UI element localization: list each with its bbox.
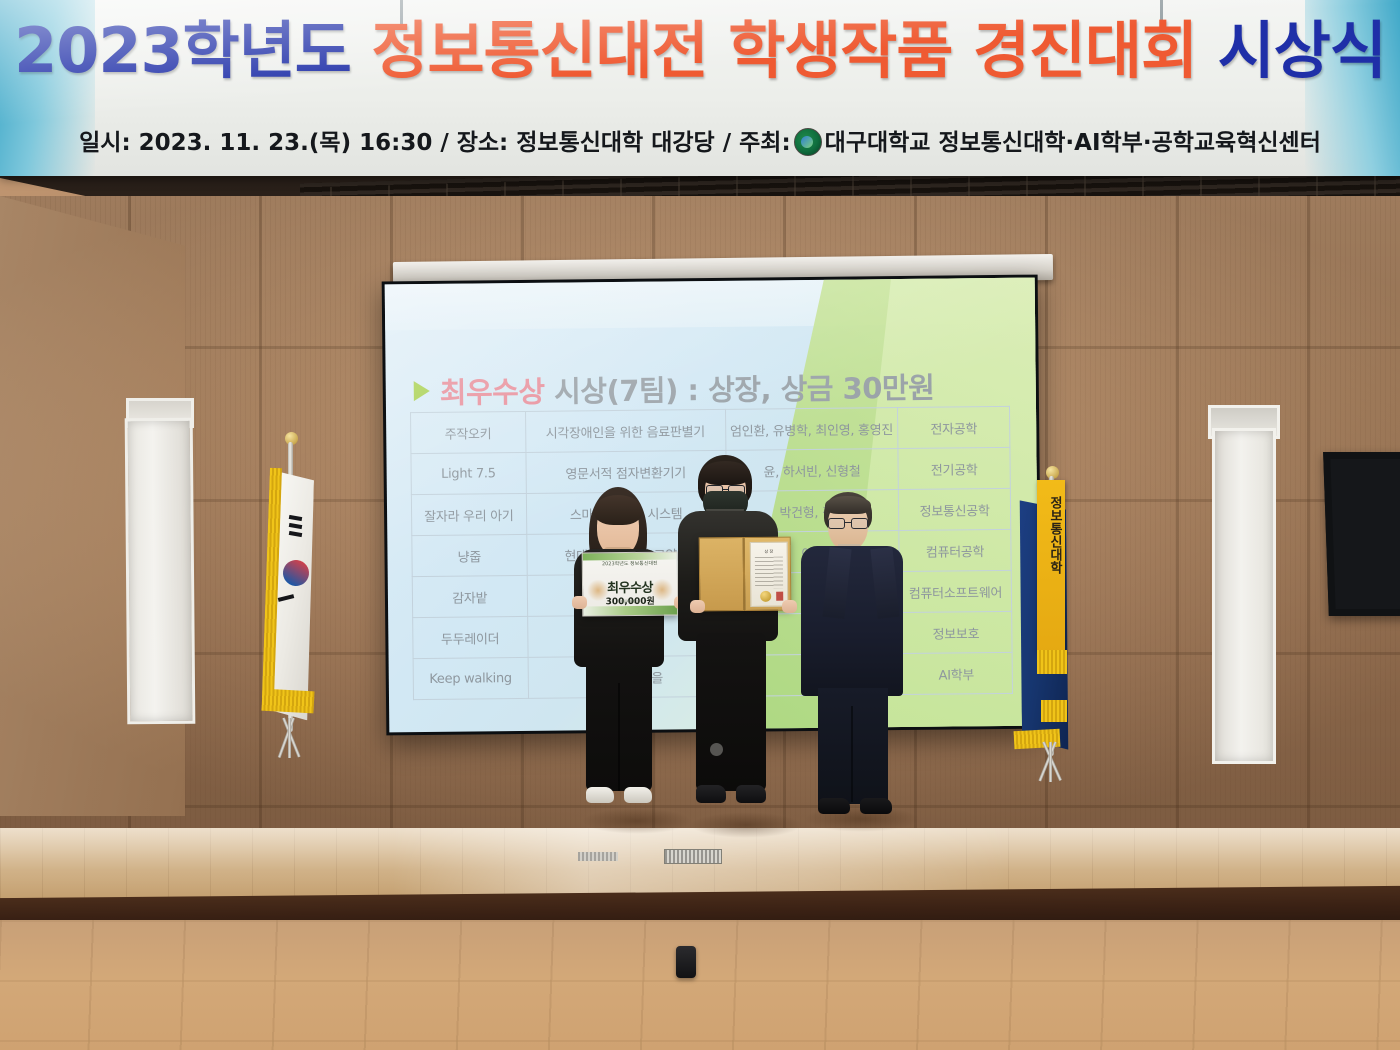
stage-right-door[interactable] <box>1212 428 1276 764</box>
hair-front <box>825 496 871 514</box>
table-cell: 냥줍 <box>412 534 527 576</box>
table-cell: 전기공학 <box>898 447 1010 489</box>
stage-floor-vent-1 <box>578 852 618 861</box>
certificate-text-lines <box>755 557 783 589</box>
university-banner-text: 정보통신대학 <box>1037 496 1065 574</box>
glasses-lens-left <box>828 518 845 529</box>
table-cell: 감자밭 <box>412 575 527 617</box>
slide-heading: 최우수상 시상(7팀) : 상장, 상금 30만원 <box>414 364 1014 412</box>
table-cell: 전자공학 <box>898 406 1010 448</box>
award-placard: 2023학년도 정보통신대전 최우수상 300,000원 대구대학교 <box>582 551 679 616</box>
hall-floor-tiles <box>0 920 1400 1050</box>
trouser-seam <box>618 683 620 791</box>
slide-heading-rest: 시상(7팀) : 상장, 상금 30만원 <box>544 371 934 409</box>
university-vertical-banner: 정보통신대학 <box>1037 480 1065 652</box>
certificate-red-stamp <box>776 592 783 601</box>
stage-floor-vent-2 <box>664 849 722 864</box>
table-cell: Light 7.5 <box>411 452 526 494</box>
tripod-leg-3 <box>288 718 291 758</box>
stage-left-door[interactable] <box>125 418 196 725</box>
placard-seal-text: 대구대학교 <box>621 599 639 605</box>
suit-trousers <box>818 688 888 804</box>
shoe-left <box>818 798 850 814</box>
floor-object <box>676 946 696 978</box>
shoe-left <box>586 787 614 803</box>
shoe-left <box>696 785 726 803</box>
table-cell: 주작오키 <box>411 411 526 453</box>
award-ceremony-photo: 최우수상 시상(7팀) : 상장, 상금 30만원 주작오키시각장애인을 위한 … <box>0 0 1400 1050</box>
tripod-leg-6 <box>1049 742 1052 782</box>
glasses-lens-right <box>851 518 868 529</box>
certificate-gold-seal <box>760 591 771 602</box>
glasses-icon <box>828 518 868 527</box>
certificate-paper: 상 장 <box>750 542 789 607</box>
official-in-suit <box>796 492 926 820</box>
hair-front <box>701 461 750 485</box>
knee-detail <box>710 743 723 756</box>
trousers <box>696 633 766 791</box>
certificate-folder: 상 장 <box>699 537 792 610</box>
table-cell: Keep walking <box>413 657 528 699</box>
student-male-with-certificate <box>676 455 804 820</box>
triangle-bullet-icon <box>414 381 430 401</box>
table-cell: 두두레이더 <box>413 616 528 658</box>
placard-subtitle: 2023학년도 정보통신대전 <box>583 561 677 568</box>
banner-fringe <box>1037 650 1067 674</box>
shoe-right <box>860 798 892 814</box>
shoe-right <box>736 785 766 803</box>
folder-left-cover <box>699 537 745 611</box>
hand-left-holding-folder <box>690 600 705 613</box>
flag-fringe-bottom-left <box>261 689 314 714</box>
placard-top-stripe <box>583 553 677 561</box>
table-cell: 잘자라 우리 아기 <box>411 493 526 535</box>
certificate-title: 상 장 <box>751 549 787 555</box>
table-cell: 엄인환, 유병학, 최인영, 홍영진 <box>725 408 898 451</box>
banner-fringe-2 <box>1041 700 1067 722</box>
hand-left-holding-placard <box>572 596 587 609</box>
table-row: 주작오키시각장애인을 위한 음료판별기엄인환, 유병학, 최인영, 홍영진전자공… <box>411 406 1010 453</box>
event-banner: 2023학년도 정보통신대전 학생작품 경진대회 시상식 일시: 2023. 1… <box>0 0 1400 176</box>
hand-right-holding-folder <box>782 600 797 613</box>
hair-front <box>594 495 642 525</box>
banner-sheen <box>0 0 1400 176</box>
table-cell: 시각장애인을 위한 음료판별기 <box>525 409 725 452</box>
slide-heading-highlight: 최우수상 <box>440 375 545 410</box>
shoe-right <box>624 787 652 803</box>
wall-mounted-display <box>1323 452 1400 616</box>
placard-bottom-stripe <box>583 606 677 616</box>
trouser-seam <box>851 706 853 802</box>
